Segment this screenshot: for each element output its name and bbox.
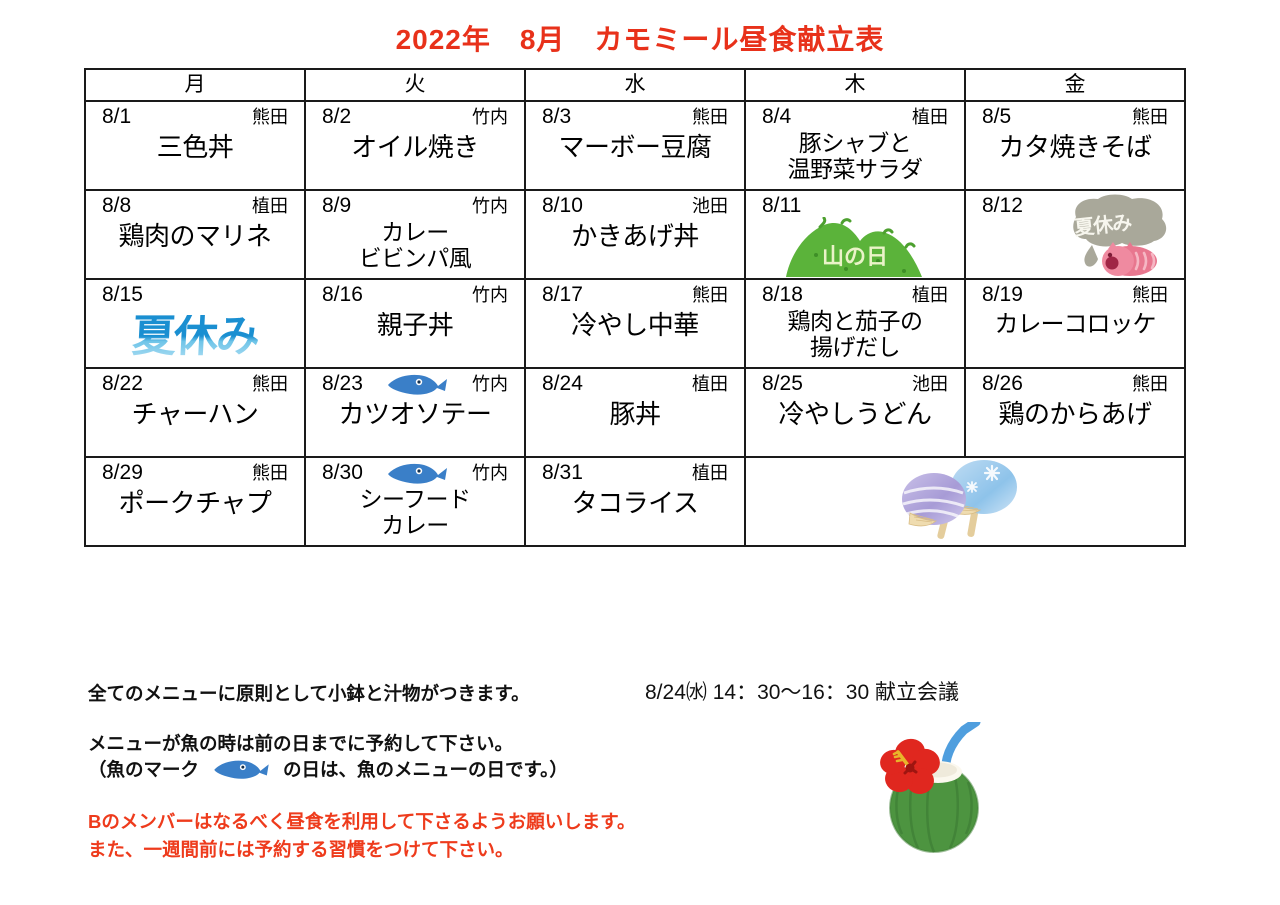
day-menu: 豚シャブと 温野菜サラダ: [746, 130, 964, 183]
day-cell-8-16[interactable]: 8/16 竹内 親子丼: [305, 279, 525, 368]
day-header: 8/2 竹内: [306, 102, 524, 130]
day-menu: ポークチャプ: [86, 486, 304, 517]
mountain-icon: 山の日: [780, 217, 930, 279]
day-menu: カレーコロッケ: [966, 308, 1184, 337]
page-title: 2022年 8月 カモミール昼食献立表: [0, 0, 1280, 60]
day-cell-8-5[interactable]: 8/5 熊田 カタ焼きそば: [965, 101, 1185, 190]
day-menu: マーボー豆腐: [526, 130, 744, 161]
day-menu: 親子丼: [306, 308, 524, 339]
day-date: 8/23: [322, 371, 363, 397]
day-date: 8/12: [982, 193, 1023, 219]
day-staff: 植田: [912, 104, 948, 130]
day-date: 8/15: [102, 282, 143, 308]
day-date: 8/19: [982, 282, 1023, 308]
day-cell-8-29[interactable]: 8/29 熊田 ポークチャプ: [85, 457, 305, 546]
day-date: 8/24: [542, 371, 583, 397]
day-header: 8/19 熊田: [966, 280, 1184, 308]
day-cell-8-24[interactable]: 8/24 植田 豚丼: [525, 368, 745, 457]
day-cell-empty-decorative: [745, 457, 1185, 546]
day-date: 8/3: [542, 104, 571, 130]
day-header: 8/24 植田: [526, 369, 744, 397]
day-date: 8/1: [102, 104, 131, 130]
day-cell-8-11[interactable]: 8/11 山: [745, 190, 965, 279]
calendar-week-row: 8/15 夏休み 8/16 竹内 親子丼 8/17: [85, 279, 1185, 368]
mosquito-coil-pig-icon: 夏休み: [1058, 193, 1178, 277]
day-menu: 鶏肉のマリネ: [86, 219, 304, 250]
day-menu: チャーハン: [86, 397, 304, 428]
day-header-mon: 月: [85, 69, 305, 101]
day-staff: 植田: [252, 193, 288, 219]
day-cell-8-12[interactable]: 8/12: [965, 190, 1185, 279]
day-menu: 豚丼: [526, 397, 744, 428]
day-staff: 熊田: [252, 460, 288, 486]
calendar-table: 月 火 水 木 金 8/1 熊田 三色丼 8/2: [84, 68, 1186, 547]
day-header: 8/10 池田: [526, 191, 744, 219]
day-header-wed: 水: [525, 69, 745, 101]
day-header-fri: 金: [965, 69, 1185, 101]
day-menu: カツオソテー: [306, 397, 524, 428]
calendar-week-row: 8/22 熊田 チャーハン 8/23: [85, 368, 1185, 457]
day-date: 8/29: [102, 460, 143, 486]
note-fish-reserve: メニューが魚の時は前の日までに予約して下さい。: [88, 730, 513, 756]
decoration-wrap: [746, 458, 1184, 542]
day-menu: 鶏のからあげ: [966, 397, 1184, 428]
fish-icon: [205, 757, 277, 781]
day-staff: 竹内: [472, 460, 508, 486]
day-staff: 池田: [692, 193, 728, 219]
note-fish-mark-before: （魚のマーク: [88, 756, 199, 782]
day-header: 8/23 竹内: [306, 369, 524, 397]
day-cell-8-19[interactable]: 8/19 熊田 カレーコロッケ: [965, 279, 1185, 368]
day-header: 8/1 熊田: [86, 102, 304, 130]
day-cell-8-25[interactable]: 8/25 池田 冷やしうどん: [745, 368, 965, 457]
day-date: 8/9: [322, 193, 351, 219]
day-cell-8-1[interactable]: 8/1 熊田 三色丼: [85, 101, 305, 190]
note-week-ahead-reservation: また、一週間前には予約する習慣をつけて下さい。: [88, 836, 514, 862]
day-cell-8-17[interactable]: 8/17 熊田 冷やし中華: [525, 279, 745, 368]
day-staff: 熊田: [252, 371, 288, 397]
day-staff: 竹内: [472, 371, 508, 397]
holiday-art: 山の日: [746, 219, 964, 277]
day-staff: 熊田: [1132, 371, 1168, 397]
day-header: 8/17 熊田: [526, 280, 744, 308]
day-header: 8/15: [86, 280, 304, 308]
day-cell-8-10[interactable]: 8/10 池田 かきあげ丼: [525, 190, 745, 279]
day-menu: 三色丼: [86, 130, 304, 161]
day-header: 8/31 植田: [526, 458, 744, 486]
coconut-drink-icon: [872, 722, 1002, 872]
fish-icon: [386, 460, 448, 486]
day-date: 8/26: [982, 371, 1023, 397]
day-menu: 冷やし中華: [526, 308, 744, 339]
calendar-week-row: 8/29 熊田 ポークチャプ 8/30: [85, 457, 1185, 546]
day-date: 8/22: [102, 371, 143, 397]
day-staff: 熊田: [1132, 104, 1168, 130]
day-header: 8/11: [746, 191, 964, 219]
calendar-week-row: 8/8 植田 鶏肉のマリネ 8/9 竹内 カレー ビビンパ風 8/10 池田: [85, 190, 1185, 279]
day-cell-8-26[interactable]: 8/26 熊田 鶏のからあげ: [965, 368, 1185, 457]
day-staff: 植田: [692, 371, 728, 397]
day-cell-8-9[interactable]: 8/9 竹内 カレー ビビンパ風: [305, 190, 525, 279]
menu-calendar: 月 火 水 木 金 8/1 熊田 三色丼 8/2: [84, 68, 1186, 547]
day-header: 8/25 池田: [746, 369, 964, 397]
day-date: 8/31: [542, 460, 583, 486]
day-staff: 植田: [912, 282, 948, 308]
fish-icon: [386, 371, 448, 397]
day-staff: 熊田: [692, 104, 728, 130]
note-b-member-request: Bのメンバーはなるべく昼食を利用して下さるようお願いします。: [88, 808, 635, 834]
day-date: 8/5: [982, 104, 1011, 130]
day-date: 8/11: [762, 193, 801, 219]
day-cell-8-4[interactable]: 8/4 植田 豚シャブと 温野菜サラダ: [745, 101, 965, 190]
day-staff: 植田: [692, 460, 728, 486]
day-menu: カタ焼きそば: [966, 130, 1184, 161]
day-menu: シーフード カレー: [306, 486, 524, 539]
day-header: 8/8 植田: [86, 191, 304, 219]
day-date: 8/16: [322, 282, 363, 308]
day-cell-8-30[interactable]: 8/30 竹内 シーフード カレー: [305, 457, 525, 546]
day-header: 8/30 竹内: [306, 458, 524, 486]
day-cell-8-8[interactable]: 8/8 植田 鶏肉のマリネ: [85, 190, 305, 279]
day-header: 8/29 熊田: [86, 458, 304, 486]
day-staff: 竹内: [472, 104, 508, 130]
note-menu-meeting: 8/24㈬ 14：30〜16：30 献立会議: [645, 676, 959, 706]
uchiwa-fans-icon: [880, 459, 1050, 541]
day-cell-8-3[interactable]: 8/3 熊田 マーボー豆腐: [525, 101, 745, 190]
day-staff: 池田: [912, 371, 948, 397]
day-date: 8/25: [762, 371, 803, 397]
day-cell-8-23[interactable]: 8/23 竹内 カツオソテー: [305, 368, 525, 457]
day-date: 8/8: [102, 193, 131, 219]
day-date: 8/4: [762, 104, 791, 130]
day-menu: かきあげ丼: [526, 219, 744, 250]
note-fish-mark: （魚のマーク の日は、魚のメニューの日です。）: [88, 756, 568, 782]
day-header: 8/16 竹内: [306, 280, 524, 308]
calendar-week-row: 8/1 熊田 三色丼 8/2 竹内 オイル焼き 8/3 熊田: [85, 101, 1185, 190]
holiday-art: 夏休み: [1058, 193, 1178, 277]
day-cell-8-15[interactable]: 8/15 夏休み: [85, 279, 305, 368]
calendar-header-row: 月 火 水 木 金: [85, 69, 1185, 101]
day-header: 8/22 熊田: [86, 369, 304, 397]
day-header: 8/9 竹内: [306, 191, 524, 219]
day-header: 8/26 熊田: [966, 369, 1184, 397]
day-date: 8/18: [762, 282, 803, 308]
day-header: 8/18 植田: [746, 280, 964, 308]
day-staff: 竹内: [472, 193, 508, 219]
day-cell-8-31[interactable]: 8/31 植田 タコライス: [525, 457, 745, 546]
day-menu: 鶏肉と茄子の 揚げだし: [746, 308, 964, 361]
note-fish-mark-after: の日は、魚のメニューの日です。）: [283, 756, 568, 782]
day-header-thu: 木: [745, 69, 965, 101]
day-date: 8/10: [542, 193, 583, 219]
holiday-art: 夏休み: [86, 308, 304, 366]
day-menu: カレー ビビンパ風: [306, 219, 524, 272]
day-cell-8-22[interactable]: 8/22 熊田 チャーハン: [85, 368, 305, 457]
day-menu: タコライス: [526, 486, 744, 517]
day-header: 8/3 熊田: [526, 102, 744, 130]
day-header-tue: 火: [305, 69, 525, 101]
day-date: 8/2: [322, 104, 351, 130]
summer-break-brush-label: 夏休み: [131, 315, 259, 359]
day-menu: 冷やしうどん: [746, 397, 964, 428]
day-date: 8/30: [322, 460, 363, 486]
day-staff: 竹内: [472, 282, 508, 308]
day-staff: 熊田: [1132, 282, 1168, 308]
summer-break-label: 夏休み: [1073, 206, 1133, 241]
day-date: 8/17: [542, 282, 583, 308]
day-staff: 熊田: [252, 104, 288, 130]
note-side-dish: 全てのメニューに原則として小鉢と汁物がつきます。: [88, 680, 530, 706]
day-header: 8/4 植田: [746, 102, 964, 130]
day-header: 8/5 熊田: [966, 102, 1184, 130]
day-cell-8-18[interactable]: 8/18 植田 鶏肉と茄子の 揚げだし: [745, 279, 965, 368]
day-staff: 熊田: [692, 282, 728, 308]
day-menu: オイル焼き: [306, 130, 524, 161]
day-cell-8-2[interactable]: 8/2 竹内 オイル焼き: [305, 101, 525, 190]
mountain-day-label: 山の日: [780, 239, 930, 271]
